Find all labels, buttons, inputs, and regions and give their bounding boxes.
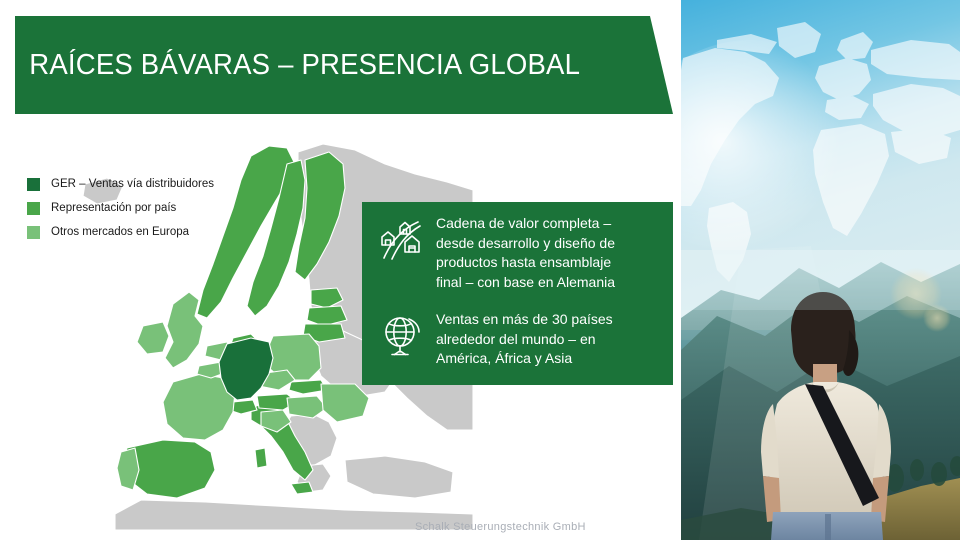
legend-swatch-dark [27, 178, 40, 191]
globe-stand-icon [374, 308, 430, 364]
highlight-text: Ventas en más de 30 países alrededor del… [430, 308, 613, 369]
highlight-item-global-sales: Ventas en más de 30 países alrededor del… [362, 292, 673, 369]
legend-item: Otros mercados en Europa [27, 220, 214, 244]
legend-label: Otros mercados en Europa [51, 226, 189, 238]
map-region-hungary [287, 396, 327, 418]
hero-photo [681, 0, 960, 540]
highlight-item-value-chain: Cadena de valor completa – desde desarro… [362, 202, 673, 292]
page-title: RAÍCES BÁVARAS – PRESENCIA GLOBAL [15, 49, 580, 82]
highlight-text: Cadena de valor completa – desde desarro… [430, 212, 615, 292]
map-region-ireland [137, 322, 169, 354]
title-banner: RAÍCES BÁVARAS – PRESENCIA GLOBAL [15, 16, 673, 114]
map-region-united-kingdom [165, 292, 203, 368]
map-region-turkey [345, 456, 453, 498]
legend-item: Representación por país [27, 196, 214, 220]
legend-swatch-medium [27, 202, 40, 215]
map-region-germany [219, 338, 273, 400]
legend-label: GER – Ventas vía distribuidores [51, 178, 214, 190]
houses-path-icon [374, 212, 430, 268]
map-region-sardinia [255, 448, 267, 468]
map-legend: GER – Ventas vía distribuidores Represen… [27, 172, 214, 244]
legend-label: Representación por país [51, 202, 176, 214]
legend-item: GER – Ventas vía distribuidores [27, 172, 214, 196]
slide-root: RAÍCES BÁVARAS – PRESENCIA GLOBAL [0, 0, 960, 540]
map-region-sicily [291, 482, 313, 494]
highlights-box: Cadena de valor completa – desde desarro… [362, 202, 673, 385]
footer-company-name: Schalk Steuerungstechnik GmbH [415, 521, 586, 533]
legend-swatch-light [27, 226, 40, 239]
